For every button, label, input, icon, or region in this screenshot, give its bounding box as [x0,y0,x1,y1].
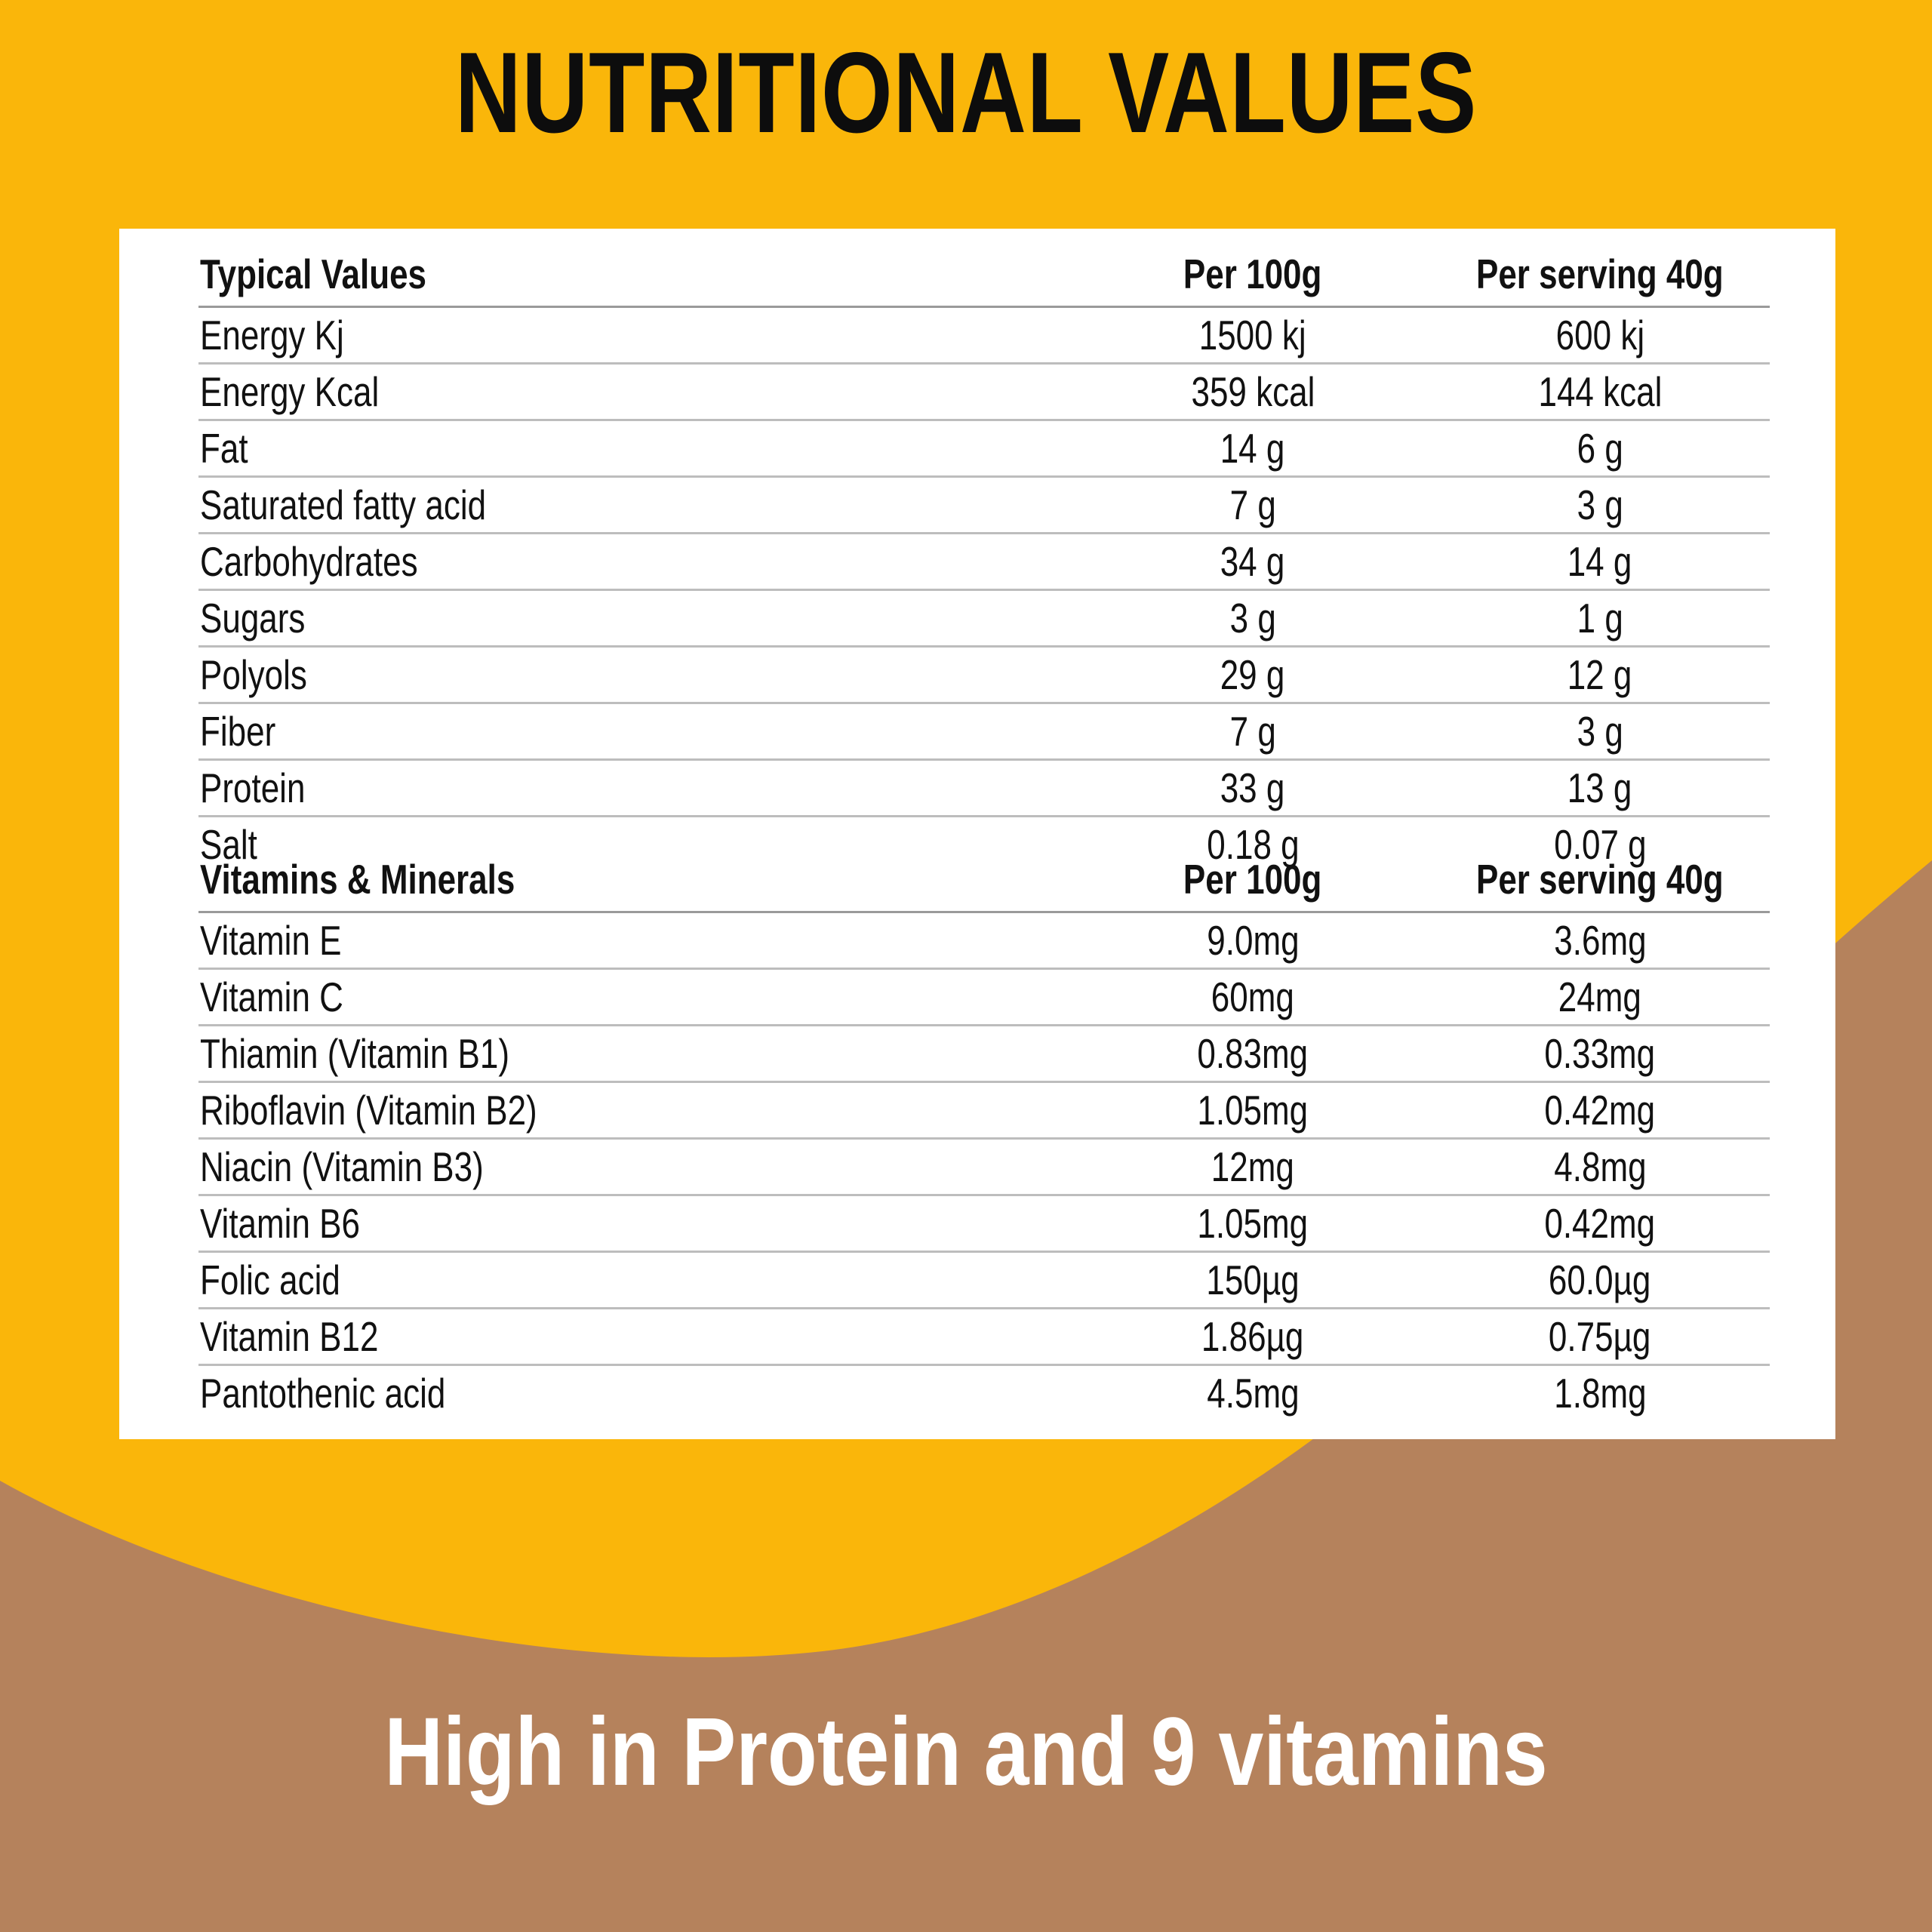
table-header-row: Vitamins & Minerals Per 100g Per serving… [198,852,1770,912]
nutrition-card: Typical Values Per 100g Per serving 40g … [119,229,1835,1439]
table-row: Energy Kj 1500 kj 600 kj [198,307,1770,364]
column-header-label: Typical Values [198,247,1075,307]
row-value-per-serving: 1 g [1430,590,1770,647]
row-label: Fat [198,420,1075,477]
row-value-per-100g: 14 g [1075,420,1430,477]
row-value-per-serving: 600 kj [1430,307,1770,364]
row-value-per-100g: 7 g [1075,477,1430,534]
table-row: Energy Kcal 359 kcal 144 kcal [198,364,1770,420]
row-value-per-100g: 34 g [1075,534,1430,590]
row-value-per-100g: 60mg [1075,969,1430,1026]
row-value-per-100g: 3 g [1075,590,1430,647]
table-row: Riboflavin (Vitamin B2) 1.05mg 0.42mg [198,1082,1770,1139]
row-value-per-100g: 1500 kj [1075,307,1430,364]
row-label: Protein [198,760,1075,817]
row-value-per-100g: 29 g [1075,647,1430,703]
table-row: Folic acid 150µg 60.0µg [198,1252,1770,1309]
table-row: Vitamin E 9.0mg 3.6mg [198,912,1770,969]
row-value-per-100g: 33 g [1075,760,1430,817]
table-row: Polyols 29 g 12 g [198,647,1770,703]
row-value-per-100g: 0.83mg [1075,1026,1430,1082]
vitamins-minerals-table: Vitamins & Minerals Per 100g Per serving… [198,852,1770,1420]
row-value-per-serving: 4.8mg [1430,1139,1770,1195]
row-value-per-serving: 12 g [1430,647,1770,703]
row-value-per-serving: 3.6mg [1430,912,1770,969]
row-value-per-100g: 1.05mg [1075,1082,1430,1139]
row-label: Folic acid [198,1252,1075,1309]
row-label: Vitamin E [198,912,1075,969]
row-label: Saturated fatty acid [198,477,1075,534]
row-label: Polyols [198,647,1075,703]
table-row: Saturated fatty acid 7 g 3 g [198,477,1770,534]
row-value-per-serving: 1.8mg [1430,1365,1770,1421]
row-label: Energy Kcal [198,364,1075,420]
row-value-per-100g: 9.0mg [1075,912,1430,969]
table-row: Pantothenic acid 4.5mg 1.8mg [198,1365,1770,1421]
row-value-per-serving: 6 g [1430,420,1770,477]
row-label: Pantothenic acid [198,1365,1075,1421]
typical-values-table: Typical Values Per 100g Per serving 40g … [198,247,1770,872]
row-label: Niacin (Vitamin B3) [198,1139,1075,1195]
row-value-per-serving: 60.0µg [1430,1252,1770,1309]
column-header-label: Vitamins & Minerals [198,852,1075,912]
table-row: Thiamin (Vitamin B1) 0.83mg 0.33mg [198,1026,1770,1082]
row-value-per-serving: 3 g [1430,703,1770,760]
table-header-row: Typical Values Per 100g Per serving 40g [198,247,1770,307]
row-value-per-serving: 0.33mg [1430,1026,1770,1082]
row-label: Sugars [198,590,1075,647]
row-label: Vitamin C [198,969,1075,1026]
table-row: Fat 14 g 6 g [198,420,1770,477]
table-row: Carbohydrates 34 g 14 g [198,534,1770,590]
column-header-per-100g: Per 100g [1075,852,1430,912]
row-value-per-serving: 144 kcal [1430,364,1770,420]
nutrition-panel: NUTRITIONAL VALUES Typical Values Per 10… [0,0,1932,1932]
row-label: Vitamin B6 [198,1195,1075,1252]
row-value-per-100g: 1.86µg [1075,1309,1430,1365]
row-value-per-100g: 7 g [1075,703,1430,760]
row-value-per-serving: 3 g [1430,477,1770,534]
page-title: NUTRITIONAL VALUES [193,29,1739,157]
table-row: Vitamin C 60mg 24mg [198,969,1770,1026]
row-value-per-serving: 0.42mg [1430,1082,1770,1139]
row-value-per-100g: 359 kcal [1075,364,1430,420]
table-row: Vitamin B12 1.86µg 0.75µg [198,1309,1770,1365]
row-label: Vitamin B12 [198,1309,1075,1365]
row-label: Fiber [198,703,1075,760]
row-value-per-serving: 0.42mg [1430,1195,1770,1252]
row-label: Energy Kj [198,307,1075,364]
tagline: High in Protein and 9 vitamins [155,1700,1777,1806]
table-row: Fiber 7 g 3 g [198,703,1770,760]
row-value-per-100g: 150µg [1075,1252,1430,1309]
column-header-per-serving: Per serving 40g [1430,852,1770,912]
row-value-per-serving: 0.75µg [1430,1309,1770,1365]
row-value-per-100g: 4.5mg [1075,1365,1430,1421]
table-row: Sugars 3 g 1 g [198,590,1770,647]
row-value-per-serving: 14 g [1430,534,1770,590]
column-header-per-serving: Per serving 40g [1430,247,1770,307]
row-label: Thiamin (Vitamin B1) [198,1026,1075,1082]
table-row: Vitamin B6 1.05mg 0.42mg [198,1195,1770,1252]
table-row: Niacin (Vitamin B3) 12mg 4.8mg [198,1139,1770,1195]
table-row: Protein 33 g 13 g [198,760,1770,817]
column-header-per-100g: Per 100g [1075,247,1430,307]
row-value-per-100g: 1.05mg [1075,1195,1430,1252]
row-value-per-100g: 12mg [1075,1139,1430,1195]
row-label: Carbohydrates [198,534,1075,590]
row-value-per-serving: 13 g [1430,760,1770,817]
row-label: Riboflavin (Vitamin B2) [198,1082,1075,1139]
row-value-per-serving: 24mg [1430,969,1770,1026]
